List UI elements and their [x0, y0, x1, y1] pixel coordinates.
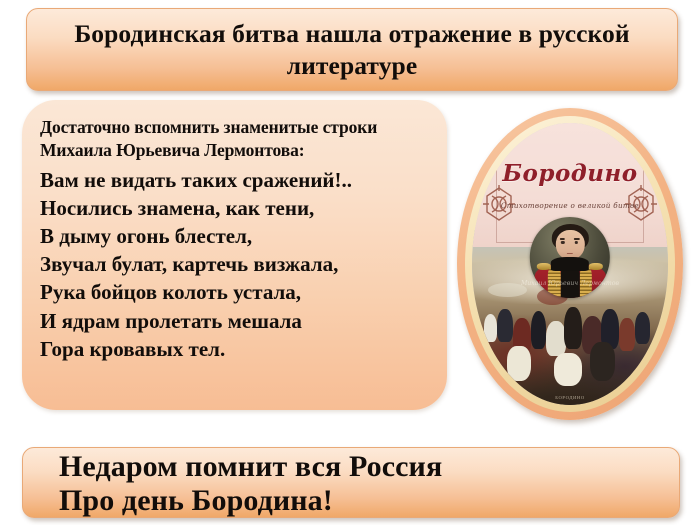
portrait-eye [561, 241, 564, 243]
book-cover-inner-ring: БОРОДИНО Бородин [465, 116, 675, 412]
quote-intro: Достаточно вспомнить знаменитые строки М… [40, 116, 433, 162]
cover-title: Бородино [472, 160, 668, 187]
poem-line: Звучал булат, картечь визжала, [40, 250, 433, 278]
cover-credit-text: БОРОДИНО [472, 395, 668, 400]
poem-line: И ядрам пролетать мешала [40, 307, 433, 335]
book-cover-image: БОРОДИНО Бородин [472, 123, 668, 405]
bottom-line-1: Недаром помнит вся Россия [59, 450, 442, 484]
title-line-1: Бородинская битва нашла отражение в русс… [74, 18, 629, 49]
title-line-2: литературе [74, 50, 629, 81]
bottom-quote-banner: Недаром помнит вся Россия Про день Бород… [22, 447, 680, 518]
title-banner: Бородинская битва нашла отражение в русс… [26, 8, 678, 91]
portrait-collar [551, 257, 590, 271]
quote-intro-line-2: Михаила Юрьевича Лермонтова: [40, 139, 433, 162]
portrait-epaulette [537, 263, 551, 270]
quote-text-panel: Достаточно вспомнить знаменитые строки М… [22, 100, 447, 410]
title-banner-text: Бородинская битва нашла отражение в русс… [74, 18, 629, 80]
poem-line: Рука бойцов колоть устала, [40, 278, 433, 306]
portrait-caption: Михаил Юрьевич Лермонтов [496, 280, 645, 287]
cover-subtitle: Стихотворение о великой битве [472, 201, 668, 210]
poem-line: В дыму огонь блестел, [40, 222, 433, 250]
poem-line: Гора кровавых тел. [40, 335, 433, 363]
bottom-line-2: Про день Бородина! [59, 484, 333, 518]
quote-intro-line-1: Достаточно вспомнить знаменитые строки [40, 116, 433, 139]
slide-canvas: Бородинская битва нашла отражение в русс… [0, 0, 700, 525]
portrait-epaulette [589, 263, 603, 270]
poem-line: Вам не видать таких сражений!.. [40, 166, 433, 194]
poem-line: Носились знамена, как тени, [40, 194, 433, 222]
book-cover-oval-frame: БОРОДИНО Бородин [457, 108, 683, 420]
poem-verse: Вам не видать таких сражений!.. Носились… [40, 166, 433, 364]
portrait-face [556, 230, 585, 261]
portrait-mouth [567, 253, 573, 254]
